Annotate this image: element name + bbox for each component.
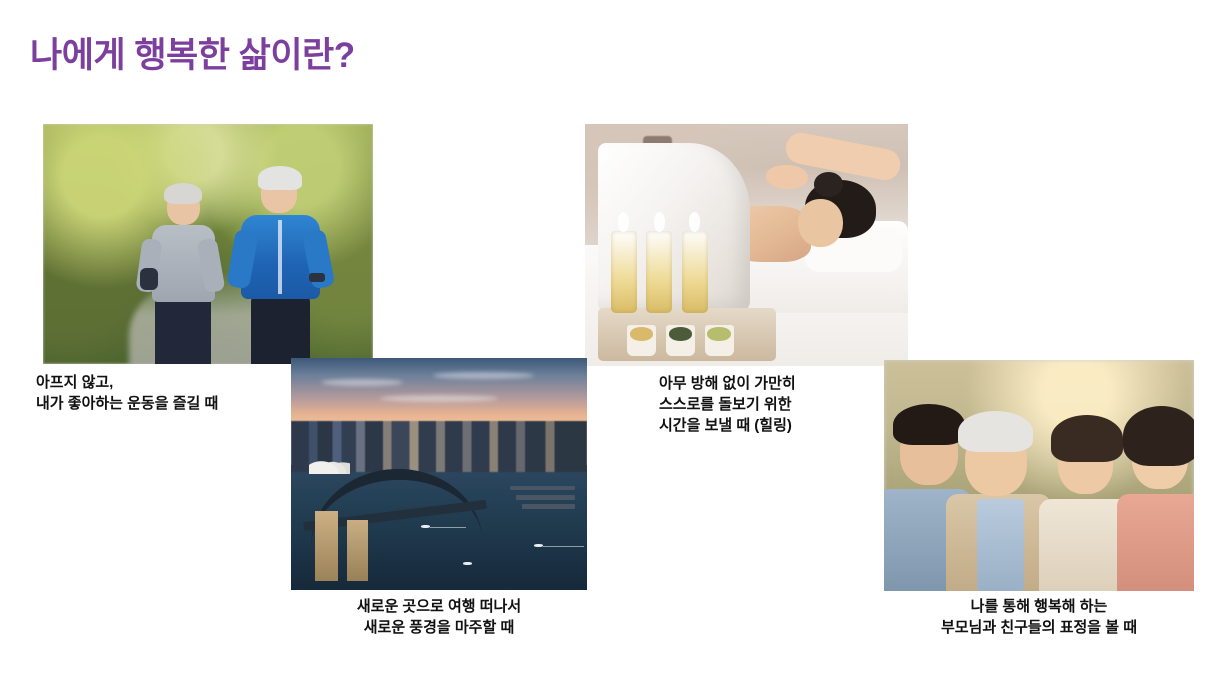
jogging-illustration [43,124,373,364]
photo-spa-massage[interactable] [585,124,908,366]
caption-healing: 아무 방해 없이 가만히 스스로를 돌보기 위한 시간을 보낼 때 (힐링) [659,373,796,436]
sydney-illustration [291,358,587,590]
photo-sydney-harbour[interactable] [291,358,587,590]
caption-travel: 새로운 곳으로 여행 떠나서 새로운 풍경을 마주할 때 [291,596,587,638]
slide-canvas: 나에게 행복한 삶이란? [0,0,1216,684]
caption-family: 나를 통해 행복해 하는 부모님과 친구들의 표정을 볼 때 [884,596,1194,638]
page-title: 나에게 행복한 삶이란? [30,27,355,78]
photo-laughing-family[interactable] [884,360,1194,591]
family-illustration [884,360,1194,591]
caption-health: 아프지 않고, 내가 좋아하는 운동을 즐길 때 [36,372,218,414]
photo-senior-couple-jogging[interactable] [43,124,373,364]
spa-illustration [585,124,908,366]
